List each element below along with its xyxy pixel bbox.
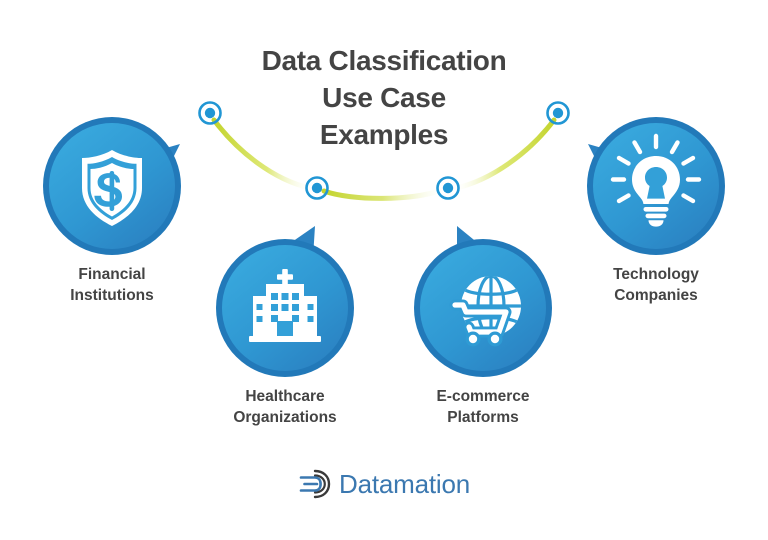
datamation-logo[interactable]: Datamation: [0, 468, 768, 500]
connector-dot-3: [438, 178, 459, 199]
connector-dot-4: [548, 103, 569, 124]
connector-dot-2: [307, 178, 328, 199]
node-label-line-1: Healthcare: [185, 386, 385, 407]
page-title-line-3: Examples: [184, 116, 584, 153]
connector-dot-1: [200, 103, 221, 124]
node-label-line-1: Technology: [556, 264, 756, 285]
node-label-ecommerce-platforms: E-commerce Platforms: [383, 386, 583, 428]
node-label-line-2: Organizations: [185, 407, 385, 428]
connector-segment-middle: [324, 190, 442, 198]
datamation-logo-text: Datamation: [339, 469, 470, 499]
connector-segment-right: [456, 120, 554, 188]
node-label-line-1: Financial: [12, 264, 212, 285]
page-title: Data Classification Use Case Examples: [184, 42, 584, 153]
node-label-line-1: E-commerce: [383, 386, 583, 407]
datamation-d-mark-icon: [298, 468, 332, 500]
node-ecommerce-platforms[interactable]: [413, 238, 553, 378]
node-label-technology-companies: Technology Companies: [556, 264, 756, 306]
node-label-line-2: Companies: [556, 285, 756, 306]
page-title-line-2: Use Case: [184, 79, 584, 116]
node-label-financial-institutions: Financial Institutions: [12, 264, 212, 306]
node-label-line-2: Institutions: [12, 285, 212, 306]
node-label-healthcare-organizations: Healthcare Organizations: [185, 386, 385, 428]
page-title-line-1: Data Classification: [184, 42, 584, 79]
infographic-canvas: Data Classification Use Case Examples: [0, 0, 768, 540]
node-healthcare-organizations[interactable]: [215, 238, 355, 378]
node-financial-institutions[interactable]: [42, 116, 182, 256]
connector-segment-left: [214, 120, 310, 188]
node-technology-companies[interactable]: [586, 116, 726, 256]
node-label-line-2: Platforms: [383, 407, 583, 428]
